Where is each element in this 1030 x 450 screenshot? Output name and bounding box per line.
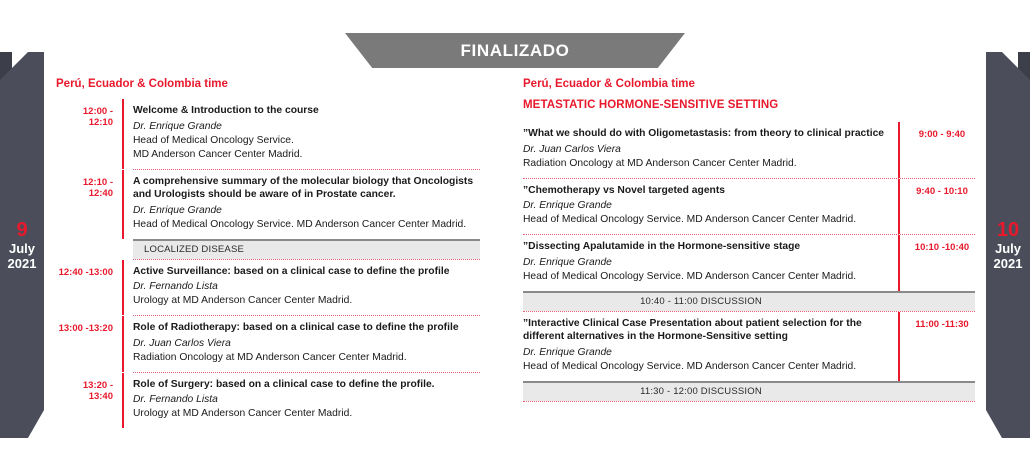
timeline-rule (122, 373, 124, 429)
session-time: 9:40 - 10:10 (909, 179, 975, 235)
session-list-right: ”What we should do with Oligometastasis:… (523, 122, 975, 402)
session-time: 11:00 -11:30 (909, 312, 975, 381)
session-affiliation: Radiation Oncology at MD Anderson Cancer… (523, 157, 889, 171)
session-time: 13:00 -13:20 (56, 316, 113, 372)
timezone-header-left: Perú, Ecuador & Colombia time (56, 78, 480, 90)
session-speaker: Dr. Enrique Grande (523, 199, 889, 213)
session-details: Role of Surgery: based on a clinical cas… (133, 373, 480, 429)
date-tab-right-day: 10 (997, 219, 1019, 242)
status-badge: FINALIZADO (345, 33, 685, 68)
status-badge-label: FINALIZADO (461, 41, 570, 61)
date-tab-left: 9 July 2021 (0, 52, 44, 438)
session-affiliation: Head of Medical Oncology Service. MD And… (523, 270, 889, 284)
timeline-rule (122, 260, 124, 316)
band-label: 11:30 - 12:00 DISCUSSION (640, 386, 762, 397)
agenda-column-day10: Perú, Ecuador & Colombia time METASTATIC… (523, 78, 975, 402)
session-title: Role of Surgery: based on a clinical cas… (133, 378, 480, 392)
session-row: ”Chemotherapy vs Novel targeted agentsDr… (523, 179, 975, 235)
session-title: Welcome & Introduction to the course (133, 104, 480, 118)
session-details: Role of Radiotherapy: based on a clinica… (133, 316, 480, 372)
session-title: Active Surveillance: based on a clinical… (133, 265, 480, 279)
session-speaker: Dr. Juan Carlos Viera (133, 337, 480, 351)
session-affiliation: Head of Medical Oncology Service. MD And… (523, 360, 889, 374)
timeline-rule (898, 235, 900, 291)
section-band: LOCALIZED DISEASE (133, 239, 480, 259)
session-details: ”Interactive Clinical Case Presentation … (523, 312, 889, 381)
date-tab-right-month: July (995, 242, 1021, 257)
date-tab-left-month: July (9, 242, 35, 257)
section-header-metastatic: METASTATIC HORMONE-SENSITIVE SETTING (523, 99, 975, 111)
session-affiliation: Radiation Oncology at MD Anderson Cancer… (133, 351, 480, 365)
session-row: 12:00 - 12:10Welcome & Introduction to t… (56, 99, 480, 169)
timeline-rule (898, 179, 900, 235)
session-row: 12:10 - 12:40A comprehensive summary of … (56, 170, 480, 239)
session-affiliation: Head of Medical Oncology Service. (133, 134, 480, 148)
session-time: 12:00 - 12:10 (56, 99, 113, 169)
date-tab-left-year: 2021 (8, 257, 37, 272)
session-time: 13:20 - 13:40 (56, 373, 113, 429)
session-title: Role of Radiotherapy: based on a clinica… (133, 321, 480, 335)
session-time: 12:10 - 12:40 (56, 170, 113, 239)
session-affiliation: Urology at MD Anderson Cancer Center Mad… (133, 294, 480, 308)
session-row: 13:00 -13:20Role of Radiotherapy: based … (56, 316, 480, 372)
session-affiliation: Head of Medical Oncology Service. MD And… (523, 213, 889, 227)
date-tab-right-year: 2021 (994, 257, 1023, 272)
timeline-rule (122, 99, 124, 169)
session-title: ”Chemotherapy vs Novel targeted agents (523, 184, 889, 198)
session-speaker: Dr. Enrique Grande (133, 204, 480, 218)
session-details: Welcome & Introduction to the courseDr. … (133, 99, 480, 169)
timeline-rule (122, 316, 124, 372)
session-speaker: Dr. Enrique Grande (523, 256, 889, 270)
session-speaker: Dr. Enrique Grande (523, 346, 889, 360)
session-affiliation: Head of Medical Oncology Service. MD And… (133, 218, 480, 232)
session-row: ”Dissecting Apalutamide in the Hormone-s… (523, 235, 975, 291)
session-list-left: 12:00 - 12:10Welcome & Introduction to t… (56, 99, 480, 428)
agenda-column-day9: Perú, Ecuador & Colombia time 12:00 - 12… (56, 78, 480, 428)
session-affiliation-2: MD Anderson Cancer Center Madrid. (133, 148, 480, 162)
session-details: Active Surveillance: based on a clinical… (133, 260, 480, 316)
session-speaker: Dr. Fernando Lista (133, 393, 480, 407)
discussion-band: 11:30 - 12:00 DISCUSSION (523, 381, 975, 401)
session-row: 12:40 -13:00Active Surveillance: based o… (56, 260, 480, 316)
timezone-header-right: Perú, Ecuador & Colombia time (523, 78, 975, 90)
timeline-rule (898, 312, 900, 381)
session-details: ”Dissecting Apalutamide in the Hormone-s… (523, 235, 889, 291)
session-speaker: Dr. Enrique Grande (133, 120, 480, 134)
timeline-rule (122, 170, 124, 239)
band-label: LOCALIZED DISEASE (144, 244, 244, 255)
session-row: ”What we should do with Oligometastasis:… (523, 122, 975, 178)
session-speaker: Dr. Fernando Lista (133, 280, 480, 294)
session-time: 10:10 -10:40 (909, 235, 975, 291)
band-label: 10:40 - 11:00 DISCUSSION (640, 296, 762, 307)
timeline-rule (898, 122, 900, 178)
session-speaker: Dr. Juan Carlos Viera (523, 143, 889, 157)
row-separator (523, 401, 975, 402)
session-details: ”What we should do with Oligometastasis:… (523, 122, 889, 178)
discussion-band: 10:40 - 11:00 DISCUSSION (523, 291, 975, 311)
session-title: A comprehensive summary of the molecular… (133, 175, 480, 202)
date-tab-left-day: 9 (16, 219, 27, 242)
session-row: 13:20 - 13:40Role of Surgery: based on a… (56, 373, 480, 429)
session-details: ”Chemotherapy vs Novel targeted agentsDr… (523, 179, 889, 235)
session-time: 12:40 -13:00 (56, 260, 113, 316)
session-time: 9:00 - 9:40 (909, 122, 975, 178)
session-affiliation: Urology at MD Anderson Cancer Center Mad… (133, 407, 480, 421)
session-title: ”Dissecting Apalutamide in the Hormone-s… (523, 240, 889, 254)
session-row: ”Interactive Clinical Case Presentation … (523, 312, 975, 381)
session-title: ”Interactive Clinical Case Presentation … (523, 317, 889, 344)
date-tab-right: 10 July 2021 (986, 52, 1030, 438)
session-details: A comprehensive summary of the molecular… (133, 170, 480, 239)
session-title: ”What we should do with Oligometastasis:… (523, 127, 889, 141)
agenda-page: FINALIZADO 9 July 2021 10 July 2021 Perú… (0, 0, 1030, 450)
